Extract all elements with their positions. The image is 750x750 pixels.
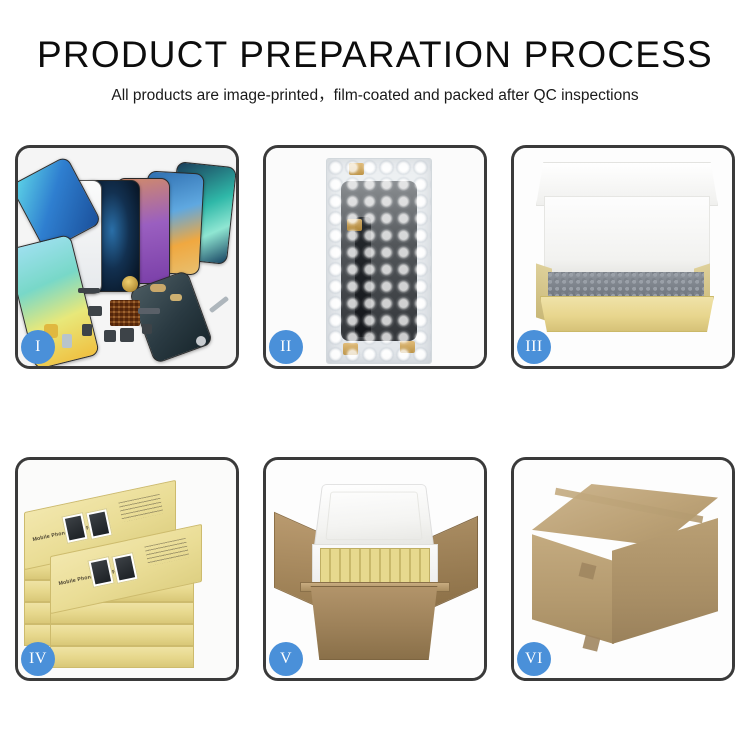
chip-grid-component — [110, 300, 140, 326]
step-panel-5: V — [263, 457, 487, 681]
step-image-4: Mobile Phone Spare Parts Mobile Phone Sp… — [18, 460, 236, 678]
styrofoam-lid — [313, 484, 434, 551]
grey-foam-padding — [548, 272, 704, 298]
page-header: PRODUCT PREPARATION PROCESS All products… — [0, 0, 750, 106]
step-panel-4: Mobile Phone Spare Parts Mobile Phone Sp… — [15, 457, 239, 681]
step-panel-6: VI — [511, 457, 735, 681]
carton-left-face — [532, 532, 614, 644]
part-strip — [78, 288, 100, 293]
step-image-5 — [266, 460, 484, 678]
part-speaker — [120, 328, 134, 342]
step-image-6 — [514, 460, 732, 678]
tape-middle — [347, 219, 362, 231]
box-front-panel — [540, 296, 714, 332]
step-badge-6: VI — [517, 642, 551, 676]
stacked-box — [50, 646, 194, 668]
part-connector — [170, 294, 182, 301]
step-badge-2: II — [269, 330, 303, 364]
step-image-1 — [18, 148, 236, 366]
carton-body — [302, 586, 446, 660]
step-badge-1: I — [21, 330, 55, 364]
tape-top — [349, 163, 364, 175]
tape-bottom-right — [400, 341, 415, 353]
box-stack: Mobile Phone Spare Parts Mobile Phone Sp… — [24, 472, 236, 672]
part-camera — [104, 330, 116, 342]
step-badge-4: IV — [21, 642, 55, 676]
part-screw-holder — [142, 324, 152, 334]
tweezers-tool — [209, 296, 229, 313]
step-panel-2: II — [263, 145, 487, 369]
tape-bottom-left — [343, 343, 358, 355]
bubble-wrap-bag — [326, 158, 432, 364]
part-screw — [196, 336, 206, 346]
stacked-box — [50, 624, 194, 646]
wrapped-flex-cable — [355, 217, 371, 337]
carton-tab-lower — [583, 634, 601, 651]
step-image-2 — [266, 148, 484, 366]
step-badge-3: III — [517, 330, 551, 364]
wrapped-part — [341, 181, 417, 341]
process-steps-grid: I II III — [15, 145, 735, 681]
step-badge-5: V — [269, 642, 303, 676]
carton-flap-right — [432, 516, 478, 608]
part-clip — [88, 306, 102, 316]
step-panel-3: III — [511, 145, 735, 369]
step-image-3 — [514, 148, 732, 366]
page-title: PRODUCT PREPARATION PROCESS — [0, 34, 750, 76]
page-subtitle: All products are image-printed，film-coat… — [0, 86, 750, 106]
part-flex-cable — [138, 308, 160, 314]
part-button — [82, 324, 92, 336]
step-panel-1: I — [15, 145, 239, 369]
part-bracket — [150, 284, 166, 292]
part-sim-tray — [62, 334, 72, 348]
white-foam-sheet — [544, 196, 710, 276]
coil-component — [122, 276, 138, 292]
